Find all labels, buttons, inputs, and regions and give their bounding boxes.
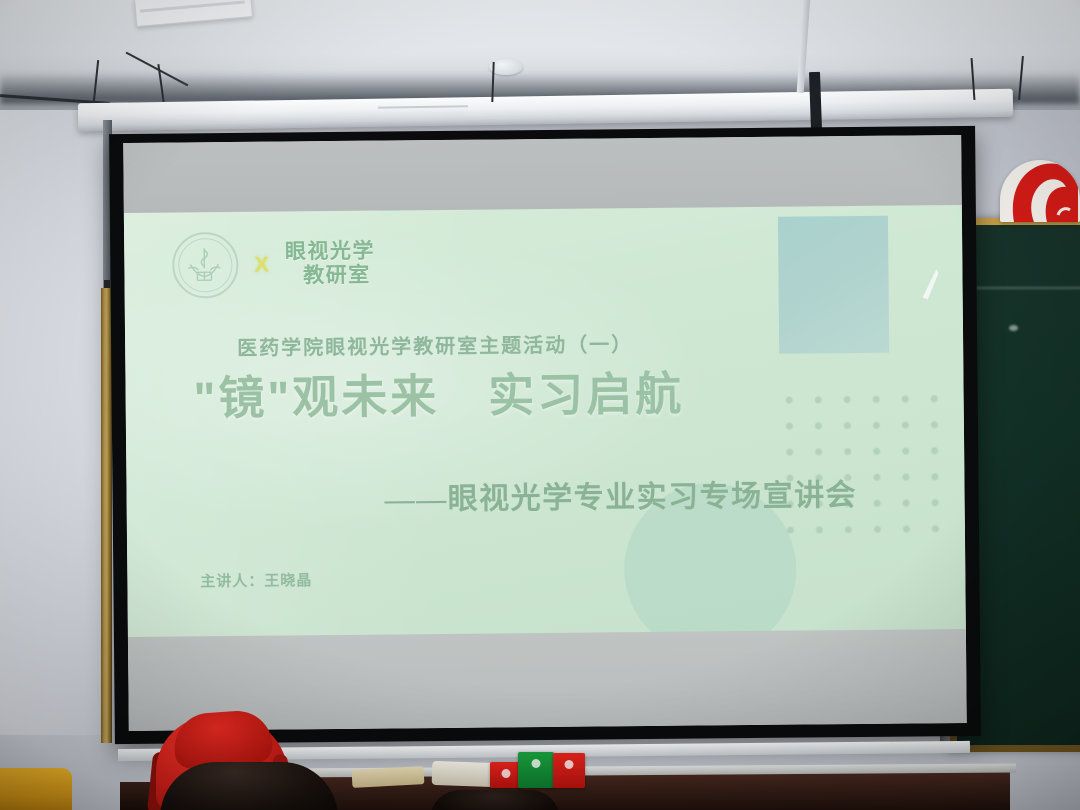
grid-dot: [787, 527, 794, 534]
grid-dot: [902, 396, 909, 403]
slide-presenter: 主讲人：王晓晶: [200, 569, 312, 591]
teal-rectangle-decoration: [778, 216, 889, 354]
backpack-flap: [172, 709, 274, 770]
grid-dot: [873, 396, 880, 403]
grid-dot: [873, 448, 880, 455]
gift-logo-mark: [532, 759, 541, 768]
grid-dot: [844, 422, 851, 429]
grid-dot: [931, 473, 938, 480]
mouse-cursor-icon[interactable]: [916, 267, 942, 307]
slide-logo-lockup: X 眼视光学 教研室: [172, 231, 375, 299]
red-papercut-decoration: [1000, 160, 1080, 222]
grid-dot: [902, 422, 909, 429]
housing-seam: [378, 105, 468, 108]
grid-dot: [931, 395, 938, 402]
grid-dot: [873, 422, 880, 429]
gift-logo-mark: [565, 760, 574, 769]
grid-dot: [902, 474, 909, 481]
grid-dot: [844, 396, 851, 403]
grid-dot: [874, 526, 881, 533]
grid-dot: [931, 447, 938, 454]
gift-logo-mark: [502, 769, 511, 778]
grid-dot: [815, 448, 822, 455]
grid-dot: [786, 449, 793, 456]
papers-on-desk: [352, 766, 425, 788]
presentation-slide: X 眼视光学 教研室 医药学院眼视光学教研室主题活动（一） "镜"观未来 实习启…: [124, 205, 966, 641]
department-line-2: 教研室: [285, 264, 375, 288]
grid-dot: [932, 499, 939, 506]
grid-dot: [874, 500, 881, 507]
grid-dot: [932, 525, 939, 532]
cursor-arrow-icon: [916, 267, 942, 307]
grid-dot: [786, 423, 793, 430]
department-line-1: 眼视光学: [285, 240, 375, 264]
grid-dot: [902, 448, 909, 455]
slide-eyebrow-text: 医药学院眼视光学教研室主题活动（一）: [237, 328, 633, 361]
chalk-mark: [1009, 325, 1018, 331]
grid-dot: [873, 474, 880, 481]
classroom-photo-scene: X 眼视光学 教研室 医药学院眼视光学教研室主题活动（一） "镜"观未来 实习启…: [0, 0, 1080, 810]
grid-dot: [786, 397, 793, 404]
grid-dot: [903, 500, 910, 507]
department-name: 眼视光学 教研室: [285, 240, 375, 288]
grid-dot: [845, 526, 852, 533]
papers-on-desk: [432, 761, 497, 787]
projection-screen[interactable]: X 眼视光学 教研室 医药学院眼视光学教研室主题活动（一） "镜"观未来 实习启…: [109, 126, 981, 744]
red-gift-box: [553, 753, 585, 788]
university-seal-logo: [172, 232, 239, 299]
grid-dot: [844, 448, 851, 455]
grid-dot: [815, 396, 822, 403]
grid-dot: [931, 421, 938, 428]
grid-dot: [903, 526, 910, 533]
x-separator-icon: X: [254, 252, 269, 278]
yellow-chair: [0, 768, 72, 810]
audience-head: [430, 790, 560, 810]
projection-surface: X 眼视光学 教研室 医药学院眼视光学教研室主题活动（一） "镜"观未来 实习启…: [123, 135, 967, 731]
fluorescent-light-fixture: [134, 0, 253, 27]
green-gift-box: [518, 752, 554, 788]
screen-mount-bracket: [809, 72, 822, 130]
papercut-icon: [1000, 160, 1080, 222]
slide-subline: ——眼视光学专业实习专场宣讲会: [384, 470, 857, 519]
grid-dot: [816, 526, 823, 533]
chalk-smudge: [965, 287, 1080, 289]
slide-headline: "镜"观未来 实习启航: [193, 358, 684, 429]
seal-emblem-icon: [182, 242, 226, 286]
grid-dot: [815, 422, 822, 429]
